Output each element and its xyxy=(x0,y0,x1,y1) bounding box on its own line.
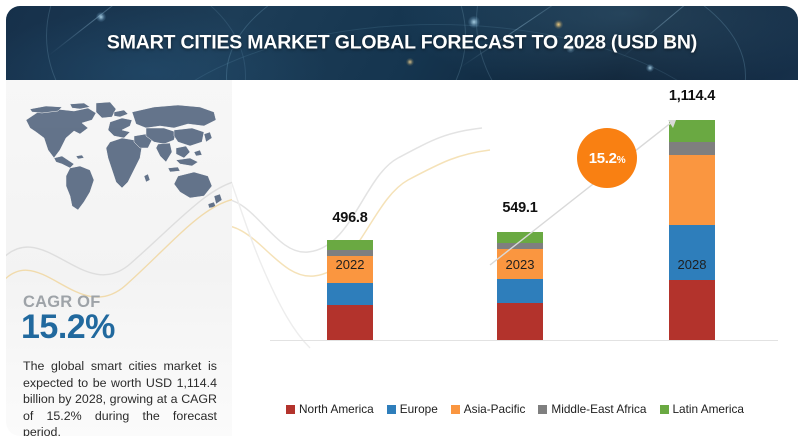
legend-item-middle-east-africa[interactable]: Middle-East Africa xyxy=(538,402,646,416)
legend-label: North America xyxy=(299,402,374,416)
legend-swatch-icon xyxy=(286,405,295,414)
summary-panel: CAGR OF 15.2% The global smart cities ma… xyxy=(6,80,232,436)
node-glow-icon xyxy=(554,20,563,29)
legend-swatch-icon xyxy=(538,405,547,414)
cagr-callout-text: 15.2% xyxy=(589,150,626,167)
infographic-root: SMART CITIES MARKET GLOBAL FORECAST TO 2… xyxy=(0,0,804,442)
header-banner: SMART CITIES MARKET GLOBAL FORECAST TO 2… xyxy=(6,6,798,80)
legend-label: Middle-East Africa xyxy=(551,402,646,416)
legend-item-latin-america[interactable]: Latin America xyxy=(660,402,744,416)
node-glow-icon xyxy=(646,64,654,72)
cagr-callout-bubble[interactable]: 15.2% xyxy=(577,128,637,188)
legend-item-asia-pacific[interactable]: Asia-Pacific xyxy=(451,402,526,416)
legend-swatch-icon xyxy=(660,405,669,414)
legend-label: Asia-Pacific xyxy=(464,402,526,416)
chart-area: 496.8 2022 549.1 2023 1,11 xyxy=(232,80,798,436)
callout-leader-line xyxy=(232,80,798,351)
legend-item-north-america[interactable]: North America xyxy=(286,402,374,416)
legend-swatch-icon xyxy=(451,405,460,414)
legend-label: Europe xyxy=(400,402,438,416)
page-title: SMART CITIES MARKET GLOBAL FORECAST TO 2… xyxy=(6,32,798,55)
node-glow-icon xyxy=(96,12,106,22)
cagr-value: 15.2% xyxy=(21,308,115,347)
node-glow-icon xyxy=(468,16,480,28)
legend-swatch-icon xyxy=(387,405,396,414)
chart-legend: North America Europe Asia-Pacific Middle… xyxy=(232,402,798,416)
legend-item-europe[interactable]: Europe xyxy=(387,402,438,416)
summary-description: The global smart cities market is expect… xyxy=(23,358,217,436)
legend-label: Latin America xyxy=(673,402,744,416)
node-glow-icon xyxy=(406,58,414,66)
